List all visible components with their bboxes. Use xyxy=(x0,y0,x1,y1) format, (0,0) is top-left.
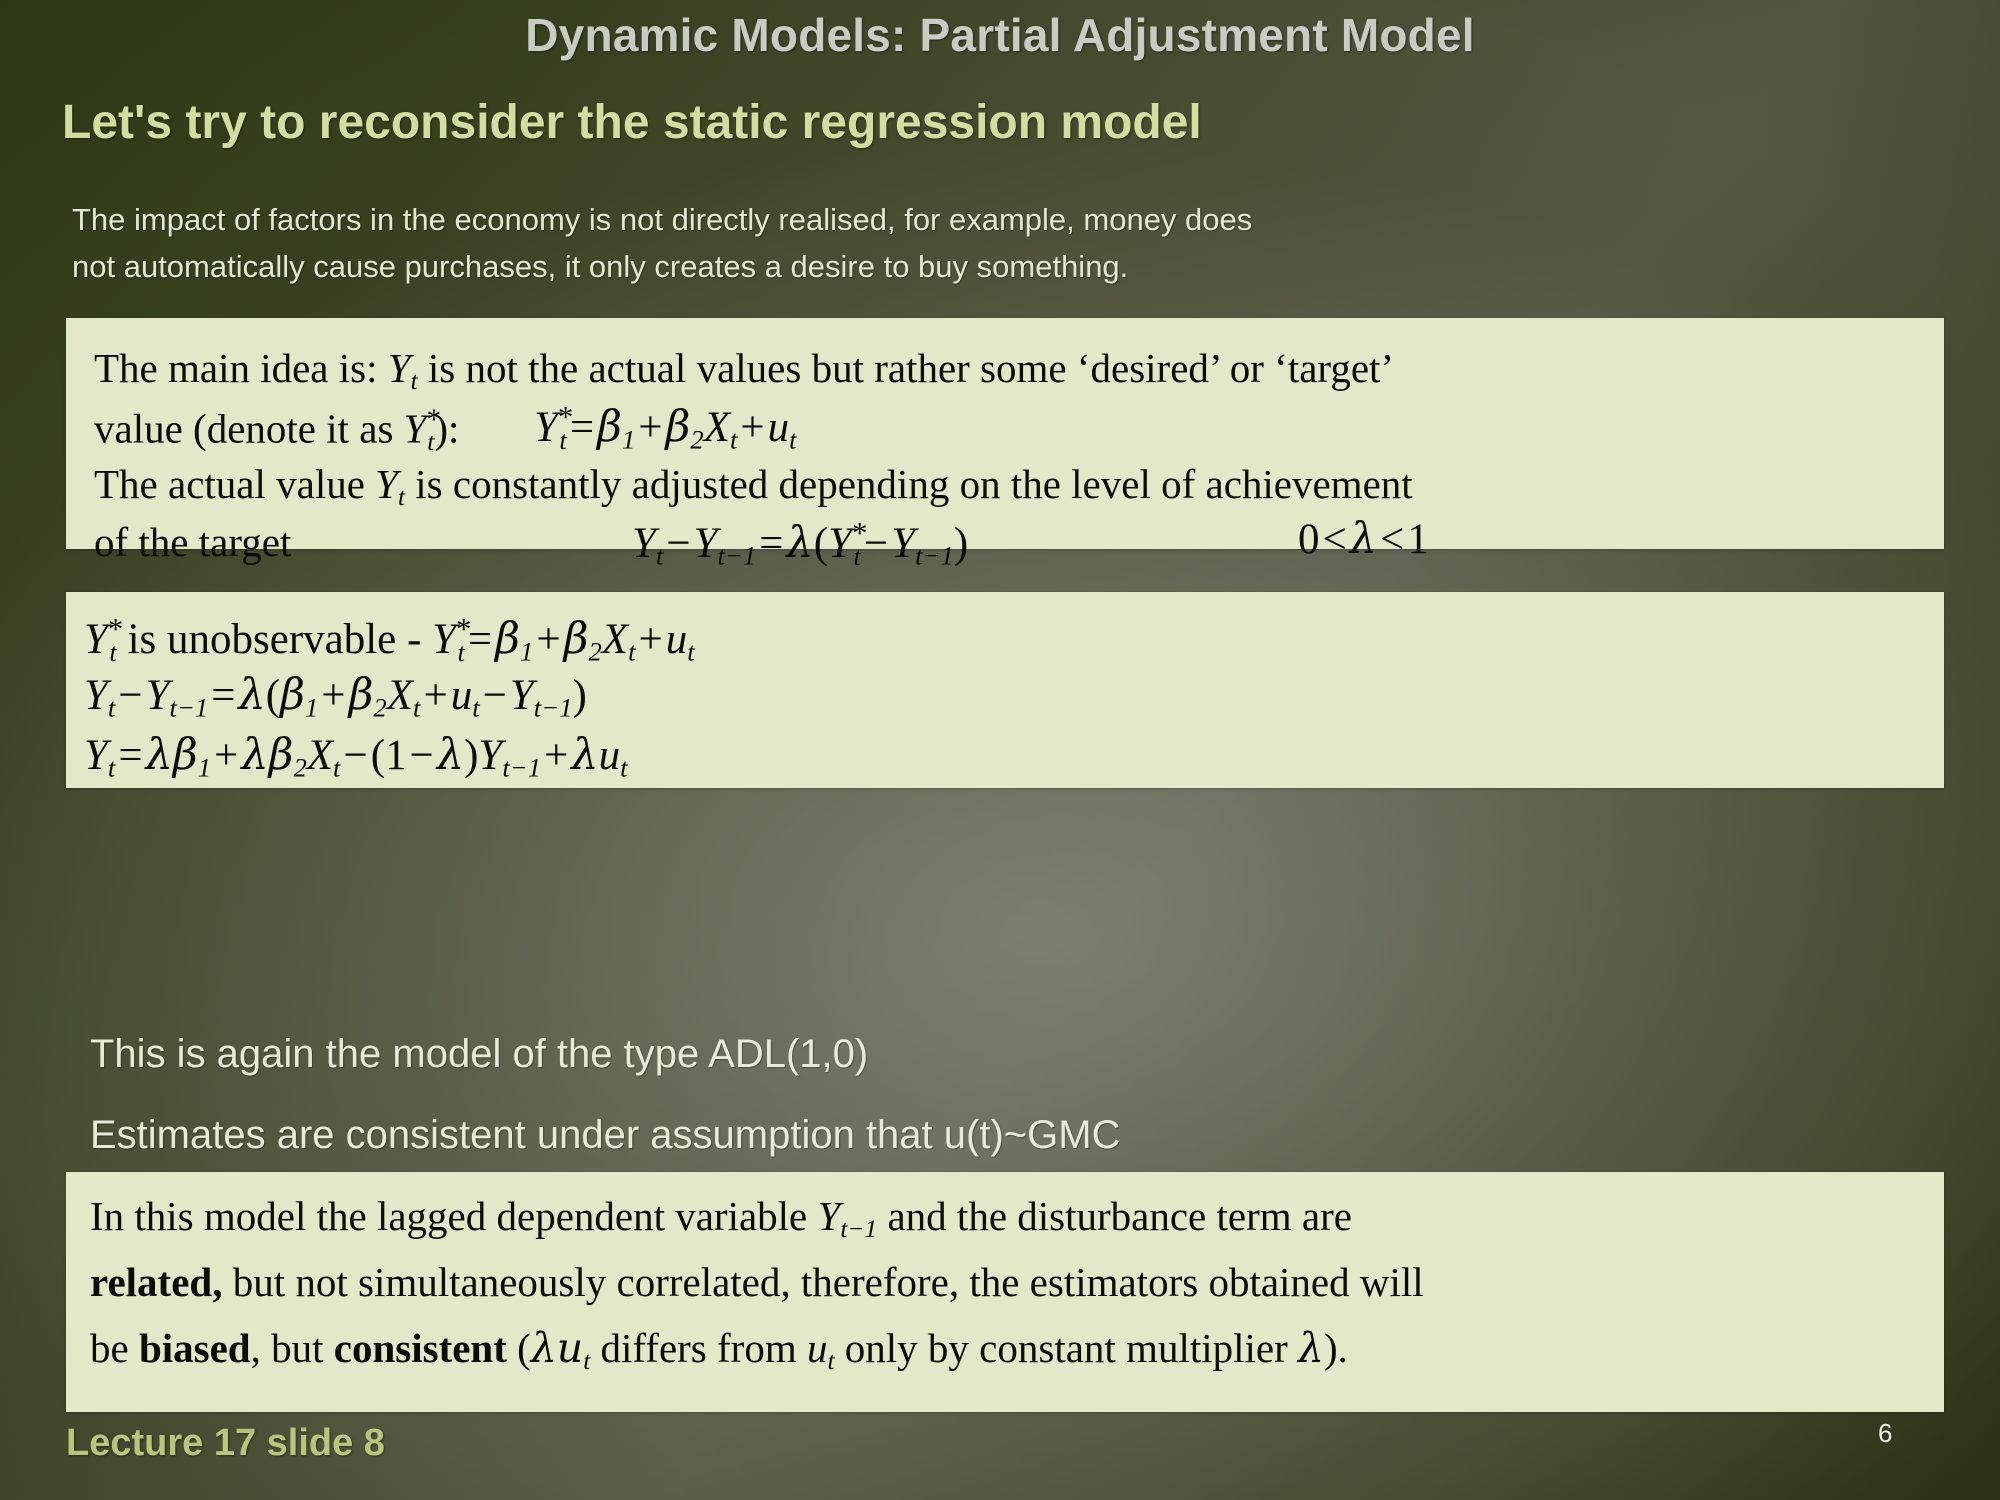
panel-c-line3-mid: , but xyxy=(251,1325,334,1371)
panel-c-line3-mid3: only by constant multiplier xyxy=(835,1325,1298,1371)
panel-a-line1-var-sub: t xyxy=(411,367,418,395)
panel-a-equation-2: Yt−Yt−1=λ(Y*t−Yt−1) Yₜ − Yₜ₋₁ = λ(Y*ₜ − … xyxy=(632,518,968,569)
panel-c-paren-open: ( xyxy=(507,1325,531,1371)
panel-c-line3-pre: be xyxy=(90,1325,139,1371)
footer-lecture-label: Lecture 17 slide 8 xyxy=(66,1422,385,1465)
panel-a-line-1: The main idea is: Yt is not the actual v… xyxy=(94,348,1394,395)
panel-a-equation-1: Y*t=β1+β2Xt+ut Y*ₜ = β₁ + β₂Xₜ + uₜ xyxy=(534,402,797,453)
panel-c-bold-biased: biased xyxy=(139,1325,251,1371)
panel-a-line3-var: Y xyxy=(375,461,398,507)
panel-a-line-4: of the target xyxy=(94,522,291,563)
panel-a-line1-post: is not the actual values but rather some… xyxy=(418,345,1394,391)
slide-title: Dynamic Models: Partial Adjustment Model xyxy=(0,8,2000,62)
panel-b-line-2: Yt−Yt−1=λ(β1+β2Xt+ut−Yt−1) Yₜ − Yₜ₋₁ = λ… xyxy=(84,674,587,721)
panel-c-line3-end: ). xyxy=(1324,1325,1348,1371)
panel-c-line1-var: Y xyxy=(818,1193,841,1239)
panel-c-line-2: related, but not simultaneously correlat… xyxy=(90,1262,1424,1303)
panel-a-line2-post: ): xyxy=(434,406,459,452)
panel-c-u-var-sub: t xyxy=(827,1347,834,1375)
panel-c-line-3: be biased, but consistent (λut differs f… xyxy=(90,1328,1348,1375)
panel-c-line1-var-sub: t−1 xyxy=(840,1215,877,1243)
panel-a-line1-pre: The main idea is: xyxy=(94,345,388,391)
panel-c-line2-mid: but not simultaneously correlated xyxy=(222,1259,780,1305)
panel-a-line-2: value (denote it as Y*t): xyxy=(94,406,459,455)
panel-a-line3-post: is constantly adjusted depending on the … xyxy=(405,461,1413,507)
panel-c-line2-post: , therefore, the estimators obtained wil… xyxy=(780,1259,1423,1305)
slide-subtitle: Let's try to reconsider the static regre… xyxy=(62,95,1202,150)
estimation-equations-panel: Y*t is unobservable - Y*t=β1+β2Xt+ut Y*ₜ… xyxy=(66,592,1944,788)
note-adl-model: This is again the model of the type ADL(… xyxy=(90,1032,868,1077)
panel-a-line2-var: Y xyxy=(404,406,427,452)
panel-b-line-1: Y*t is unobservable - Y*t=β1+β2Xt+ut Y*ₜ… xyxy=(84,614,695,665)
intro-line-2: not automatically cause purchases, it on… xyxy=(72,243,1948,290)
panel-b-line1-text: is unobservable - xyxy=(117,616,432,663)
note-estimates-consistent: Estimates are consistent under assumptio… xyxy=(90,1113,1120,1158)
panel-c-line3-mid2: differs from xyxy=(590,1325,807,1371)
panel-c-lambda: λ xyxy=(1298,1324,1324,1372)
panel-a-line3-pre: The actual value xyxy=(94,461,375,507)
panel-c-bold-related: related, xyxy=(90,1259,222,1305)
panel-a-line2-pre: value (denote it as xyxy=(94,406,404,452)
conclusion-panel: In this model the lagged dependent varia… xyxy=(66,1172,1944,1412)
panel-c-u-var: u xyxy=(807,1325,828,1371)
main-idea-panel: The main idea is: Yt is not the actual v… xyxy=(66,318,1944,549)
panel-c-line-1: In this model the lagged dependent varia… xyxy=(90,1196,1352,1243)
panel-b-line-3: Yt=λβ1+λβ2Xt−(1−λ)Yt−1+λut Yₜ = λβ₁ + λβ… xyxy=(84,734,628,781)
panel-a-line3-var-sub: t xyxy=(398,483,405,511)
footer-page-number: 6 xyxy=(1878,1418,1892,1449)
panel-c-bold-consistent: consistent xyxy=(334,1325,507,1371)
panel-a-line1-var: Y xyxy=(388,345,411,391)
slide-canvas: Dynamic Models: Partial Adjustment Model… xyxy=(0,0,2000,1500)
panel-c-line1-post: and the disturbance term are xyxy=(877,1193,1352,1239)
panel-a-line-3: The actual value Yt is constantly adjust… xyxy=(94,464,1413,511)
panel-a-condition: 0<λ<1 0 < λ < 1 xyxy=(1298,518,1429,561)
intro-paragraph: The impact of factors in the economy is … xyxy=(72,196,1948,290)
intro-line-1: The impact of factors in the economy is … xyxy=(72,196,1948,243)
panel-c-line1-pre: In this model the lagged dependent varia… xyxy=(90,1193,818,1239)
panel-c-lambda-u: λu xyxy=(531,1324,583,1372)
